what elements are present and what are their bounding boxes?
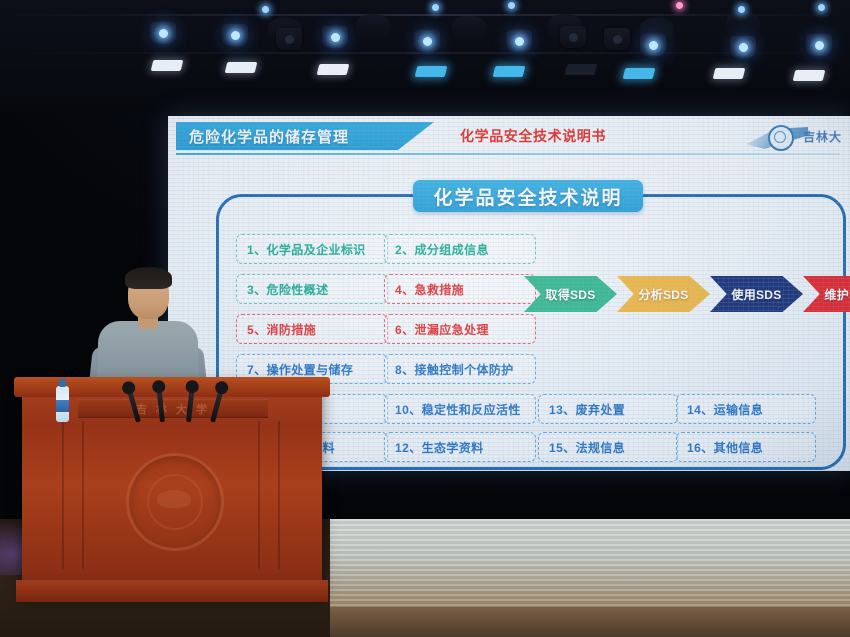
university-logo: 吉林大 [746,120,844,152]
slide-header-title: 危险化学品的储存管理 [176,126,349,147]
sds-item-10: 10、稳定性和反应活性 [384,394,536,424]
sds-item-2: 2、成分组成信息 [384,234,536,264]
sds-item-number: 3、 [247,281,266,298]
flow-step-label: 取得SDS [545,286,595,303]
sds-item-label: 成分组成信息 [414,241,488,258]
header-divider [176,153,840,155]
sds-item-number: 4、 [395,281,414,298]
sds-item-label: 急救措施 [414,281,464,298]
light-panel-icon [317,64,350,75]
sds-item-6: 6、泄漏应急处理 [384,314,536,344]
water-bottle [56,386,69,422]
light-panel-icon [713,68,746,79]
slide-header-subtitle: 化学品安全技术说明书 [460,126,606,146]
ceiling-light-truss [0,0,850,112]
sds-item-16: 16、其他信息 [676,432,816,462]
sds-item-label: 操作处置与储存 [266,361,353,378]
sds-item-number: 14、 [687,401,714,418]
sds-item-number: 15、 [549,439,576,456]
sds-item-number: 13、 [549,401,576,418]
light-panel-icon [151,60,184,71]
sds-item-1: 1、化学品及企业标识 [236,234,388,264]
sds-item-label: 化学品及企业标识 [266,241,365,258]
stage-lamp-icon [806,34,832,56]
stage-lamp-icon [150,22,176,44]
sds-item-number: 16、 [687,439,714,456]
stage-lamp-icon [322,26,348,48]
light-panel-icon [565,64,598,75]
sds-item-number: 1、 [247,241,266,258]
sds-item-3: 3、危险性概述 [236,274,388,304]
sds-item-label: 生态学资料 [422,439,484,456]
sds-item-number: 8、 [395,361,414,378]
sds-item-label: 其他信息 [714,439,764,456]
sds-item-13: 13、废弃处置 [538,394,678,424]
light-panel-icon [415,66,448,77]
sds-item-12: 12、生态学资料 [384,432,536,462]
sds-item-15: 15、法规信息 [538,432,678,462]
sds-item-label: 运输信息 [714,401,764,418]
university-name: 吉林大 [803,128,842,145]
sds-item-number: 6、 [395,321,414,338]
slide-title: 化学品安全技术说明 [433,183,622,210]
sds-item-label: 消防措施 [266,321,316,338]
speaker-hair [125,267,172,289]
stage-lamp-icon [730,36,756,58]
sds-item-5: 5、消防措施 [236,314,388,344]
flow-step-label: 维护SDS [824,286,850,303]
sds-item-4: 4、急救措施 [384,274,536,304]
slide-title-pill: 化学品安全技术说明 [413,180,643,212]
sds-item-8: 8、接触控制个体防护 [384,354,536,384]
light-panel-icon [623,68,656,79]
podium-band-text: 吉 林 大 学 [78,400,268,417]
stage-lamp-icon [640,34,666,56]
sds-item-number: 10、 [395,401,422,418]
sds-item-number: 5、 [247,321,266,338]
sds-item-label: 稳定性和反应活性 [422,401,521,418]
university-seal-icon [768,125,794,151]
sds-item-label: 危险性概述 [266,281,328,298]
stage-lamp-icon [414,30,440,52]
flow-step-label: 使用SDS [731,286,781,303]
stage-lamp-icon [222,24,248,46]
stage-lamp-icon [560,26,586,48]
sds-item-number: 2、 [395,241,414,258]
stage-lamp-icon [276,28,302,50]
sds-item-number: 12、 [395,439,422,456]
sds-item-14: 14、运输信息 [676,394,816,424]
light-panel-icon [225,62,258,73]
stage-lamp-icon [506,30,532,52]
podium-emblem-icon [126,453,224,551]
podium-carved-band: 吉 林 大 学 [78,399,268,418]
sds-item-label: 废弃处置 [576,401,626,418]
sds-item-label: 接触控制个体防护 [414,361,513,378]
sds-item-label: 泄漏应急处理 [414,321,488,338]
lecture-hall-photo: 危险化学品的储存管理 化学品安全技术说明书 吉林大 化学品安全技术说明 1、化学… [0,0,850,637]
flow-step-label: 分析SDS [638,286,688,303]
light-panel-icon [793,70,826,81]
stage-lamp-icon [604,28,630,50]
sds-item-number: 7、 [247,361,266,378]
slide-header-banner: 危险化学品的储存管理 [176,122,434,150]
sds-item-label: 法规信息 [576,439,626,456]
light-panel-icon [493,66,526,77]
